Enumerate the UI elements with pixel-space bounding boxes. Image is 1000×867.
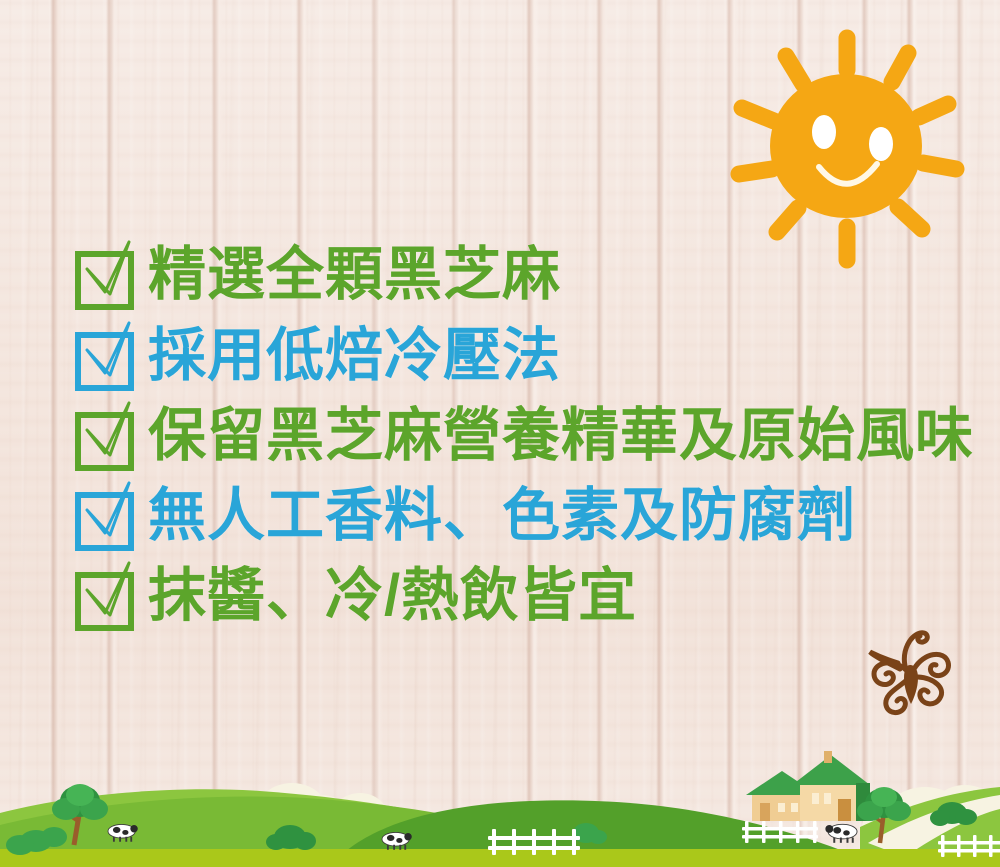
farm-landscape-illustration xyxy=(0,717,1000,867)
product-feature-poster: 精選全顆黑芝麻 採用低焙冷壓法 保留黑芝麻營養精華及原始風味 xyxy=(0,0,1000,867)
checkbox-checked-icon[interactable] xyxy=(74,238,136,312)
checklist-item-5: 抹醬、冷/熱飲皆宜 xyxy=(74,556,954,636)
grass-band xyxy=(0,849,1000,867)
checklist-item-4-label: 無人工香料、色素及防腐劑 xyxy=(148,487,856,545)
checklist-item-1: 精選全顆黑芝麻 xyxy=(74,234,954,316)
checklist-item-2: 採用低焙冷壓法 xyxy=(74,316,954,396)
farmhouse xyxy=(746,751,870,821)
checklist-item-2-label: 採用低焙冷壓法 xyxy=(148,327,561,385)
checkbox-checked-icon[interactable] xyxy=(74,559,136,633)
checklist-item-1-label: 精選全顆黑芝麻 xyxy=(148,246,561,304)
checklist-item-5-label: 抹醬、冷/熱飲皆宜 xyxy=(148,567,637,625)
butterfly-icon xyxy=(858,622,970,722)
checklist-item-3-label: 保留黑芝麻營養精華及原始風味 xyxy=(148,407,974,465)
cow-right xyxy=(825,824,857,842)
feature-checklist: 精選全顆黑芝麻 採用低焙冷壓法 保留黑芝麻營養精華及原始風味 xyxy=(74,234,954,636)
checkbox-checked-icon[interactable] xyxy=(74,399,136,473)
checklist-item-4: 無人工香料、色素及防腐劑 xyxy=(74,476,954,556)
checklist-item-3: 保留黑芝麻營養精華及原始風味 xyxy=(74,396,954,476)
checkbox-checked-icon[interactable] xyxy=(74,479,136,553)
checkbox-checked-icon[interactable] xyxy=(74,319,136,393)
